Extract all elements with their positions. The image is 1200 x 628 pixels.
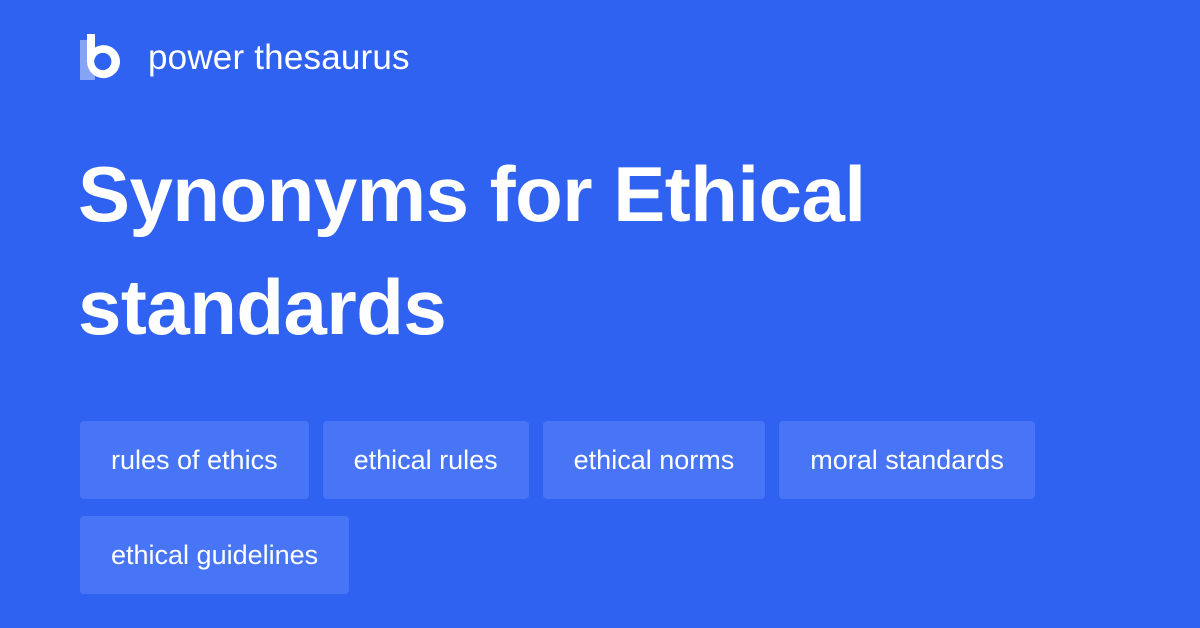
synonym-chip[interactable]: ethical rules — [323, 421, 529, 499]
synonym-chip[interactable]: moral standards — [779, 421, 1035, 499]
brand-name: power thesaurus — [148, 40, 410, 75]
og-share-card: power thesaurus Synonyms for Ethical sta… — [0, 0, 1200, 628]
page-title: Synonyms for Ethical standards — [78, 138, 978, 364]
synonym-chip[interactable]: ethical norms — [543, 421, 766, 499]
synonym-chip[interactable]: ethical guidelines — [80, 516, 349, 594]
synonym-chip-list: rules of ethics ethical rules ethical no… — [80, 421, 1120, 594]
power-thesaurus-logo-icon — [80, 34, 124, 80]
synonym-chip[interactable]: rules of ethics — [80, 421, 309, 499]
brand-header[interactable]: power thesaurus — [80, 29, 410, 85]
